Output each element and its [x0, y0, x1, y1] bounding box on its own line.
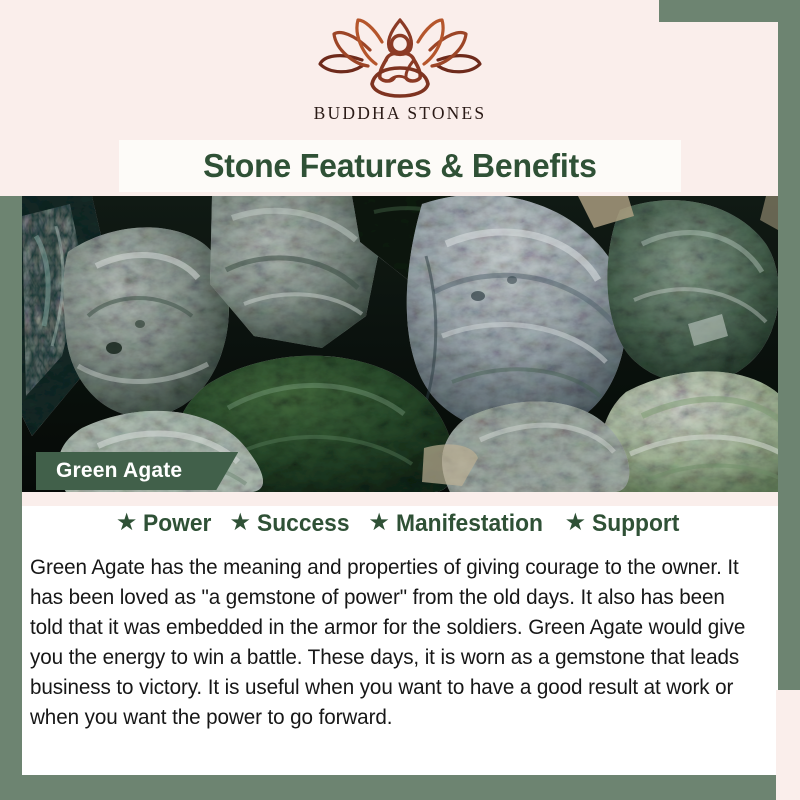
- pink-divider-strip: [22, 492, 778, 506]
- stone-name-banner: Green Agate: [36, 452, 238, 490]
- top-left-pink-bleed: [0, 0, 24, 196]
- feature-item: ★ Success: [229, 510, 354, 538]
- top-right-frame-bar: [659, 0, 800, 22]
- brand-name: BUDDHA STONES: [314, 103, 487, 124]
- star-icon: ★: [229, 511, 251, 535]
- stone-info-poster: BUDDHA STONES Stone Features & Benefits: [0, 0, 800, 800]
- feature-label: Support: [592, 510, 679, 538]
- feature-label: Power: [143, 510, 211, 538]
- feature-item: ★ Support: [565, 510, 685, 538]
- stone-name: Green Agate: [56, 459, 182, 483]
- feature-item: ★ Power: [116, 510, 216, 538]
- feature-label: Success: [257, 510, 350, 538]
- poster-card: BUDDHA STONES Stone Features & Benefits: [22, 0, 778, 775]
- header-title-band: Stone Features & Benefits: [119, 140, 681, 192]
- bottom-right-pink-bleed: [776, 690, 800, 800]
- feature-list: ★ Power ★ Success ★ Manifestation ★ Supp…: [22, 510, 778, 538]
- star-icon: ★: [565, 511, 587, 535]
- feature-label: Manifestation: [396, 510, 543, 538]
- page-title: Stone Features & Benefits: [203, 147, 597, 185]
- bottom-frame-bar: [0, 775, 800, 800]
- brand-logo: BUDDHA STONES: [285, 16, 515, 134]
- star-icon: ★: [368, 511, 390, 535]
- lotus-meditation-icon: [310, 16, 490, 102]
- stone-photo: [22, 196, 778, 492]
- description-paragraph: Green Agate has the meaning and properti…: [30, 552, 748, 732]
- star-icon: ★: [116, 511, 138, 535]
- body-section: ★ Power ★ Success ★ Manifestation ★ Supp…: [22, 492, 778, 775]
- poster-header: BUDDHA STONES Stone Features & Benefits: [22, 0, 778, 196]
- feature-item: ★ Manifestation: [368, 510, 550, 538]
- right-frame-bar: [778, 0, 800, 690]
- left-frame-bar: [0, 196, 22, 775]
